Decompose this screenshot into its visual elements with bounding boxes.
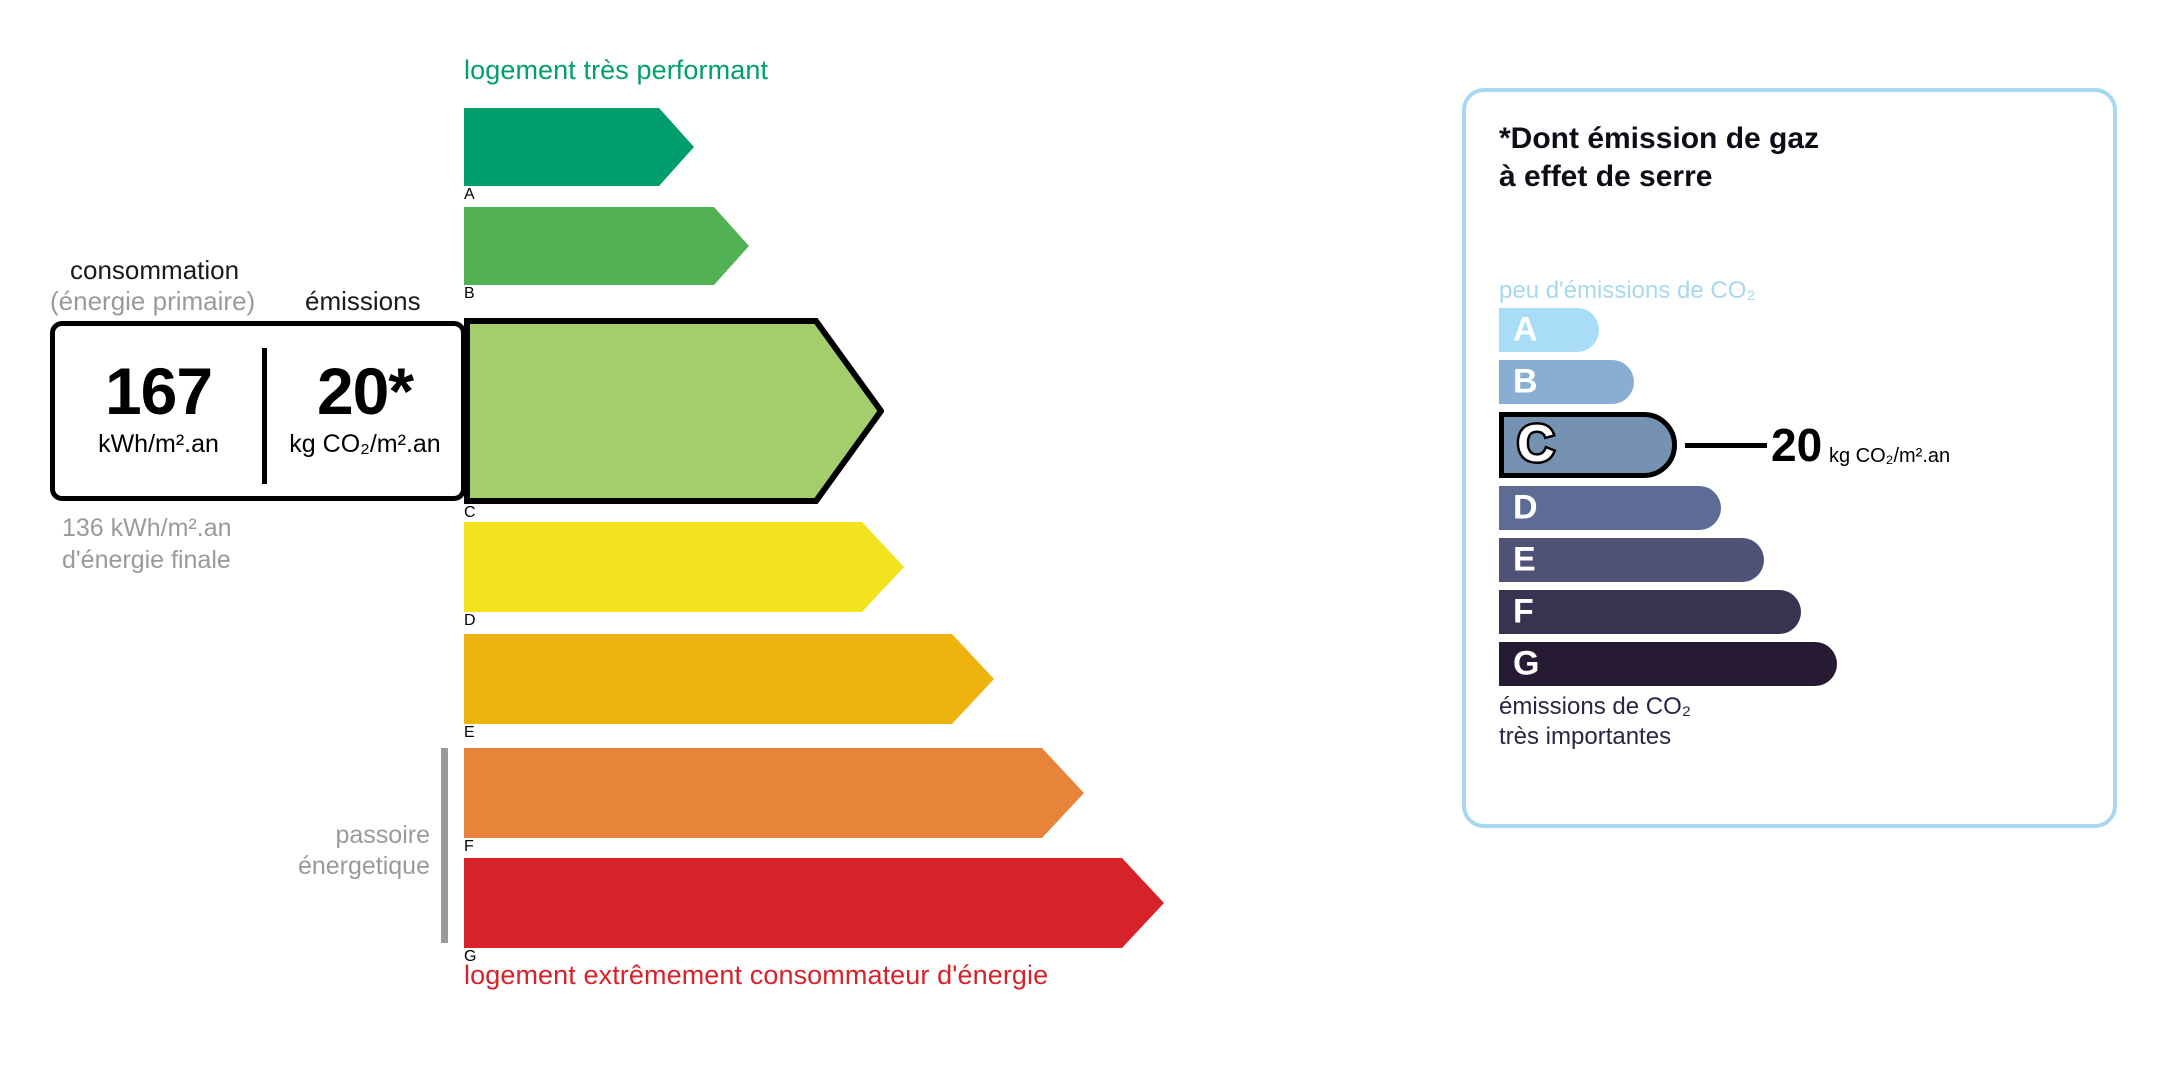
- energy-arrow-c-shape: [464, 318, 884, 504]
- co2-bar-f: [1499, 590, 1801, 634]
- co2-bar-c-letter: C: [1517, 418, 1555, 470]
- dpe-energy-label: logement très performant A B C: [0, 0, 2169, 1079]
- co2-top-caption: peu d'émissions de CO₂: [1499, 277, 1756, 305]
- energy-arrow-f-shape: [464, 748, 1084, 838]
- energy-arrow-b-shape: [464, 207, 749, 285]
- co2-bottom-caption: émissions de CO₂ très importantes: [1499, 692, 1691, 752]
- emissions-value-cell: 20* kg CO₂/m².an: [267, 326, 463, 496]
- energy-arrow-d: D: [464, 522, 904, 612]
- final-energy-label: 136 kWh/m².an d'énergie finale: [62, 512, 232, 576]
- energy-arrow-d-shape: [464, 522, 904, 612]
- consumption-header-line1: consommation: [70, 255, 239, 286]
- energy-arrow-e-letter: E: [464, 724, 475, 741]
- co2-bar-b-letter: B: [1513, 364, 1538, 398]
- bottom-caption-label: logement extrêmement consommateur d'éner…: [464, 960, 1048, 991]
- consumption-header-line2: (énergie primaire): [50, 286, 255, 317]
- top-caption-label: logement très performant: [464, 55, 768, 86]
- passoire-bracket: [441, 748, 448, 943]
- emissions-unit: kg CO₂/m².an: [289, 432, 440, 457]
- energy-arrow-b-letter: B: [464, 285, 475, 302]
- energy-arrow-g-shape: [464, 858, 1164, 948]
- co2-callout-line: [1685, 443, 1767, 448]
- energy-arrow-g: G: [464, 858, 1164, 948]
- co2-callout-value: 20: [1771, 422, 1822, 468]
- value-box: 167 kWh/m².an 20* kg CO₂/m².an: [50, 321, 466, 501]
- co2-bar-d-letter: D: [1513, 490, 1538, 524]
- co2-bar-e: [1499, 538, 1764, 582]
- energy-arrow-f: F: [464, 748, 1084, 838]
- consumption-value: 167: [105, 358, 212, 424]
- co2-panel-title: *Dont émission de gaz à effet de serre: [1499, 120, 1819, 196]
- co2-bar-g: [1499, 642, 1837, 686]
- emissions-value: 20*: [317, 358, 413, 424]
- co2-bar-f-letter: F: [1513, 594, 1534, 628]
- energy-arrow-e-shape: [464, 634, 994, 724]
- co2-bar-a-letter: A: [1513, 312, 1538, 346]
- emissions-header: émissions: [305, 286, 421, 317]
- energy-scale-panel: logement très performant A B C: [0, 0, 1380, 1079]
- energy-arrow-f-letter: F: [464, 838, 474, 855]
- energy-arrow-a-shape: [464, 108, 694, 186]
- energy-arrow-d-letter: D: [464, 612, 476, 629]
- energy-arrow-c-letter: C: [464, 504, 476, 521]
- co2-panel: *Dont émission de gaz à effet de serre p…: [1462, 88, 2117, 828]
- energy-arrow-b: B: [464, 207, 749, 285]
- energy-arrow-e: E: [464, 634, 994, 724]
- consumption-unit: kWh/m².an: [98, 432, 219, 457]
- consumption-value-cell: 167 kWh/m².an: [55, 326, 262, 496]
- passoire-label: passoire énergetique: [170, 820, 430, 883]
- energy-arrow-c-selected: C: [464, 318, 884, 504]
- co2-bar-e-letter: E: [1513, 542, 1536, 576]
- co2-callout-unit: kg CO₂/m².an: [1829, 446, 1950, 466]
- co2-bar-g-letter: G: [1513, 646, 1539, 680]
- energy-arrow-a-letter: A: [464, 186, 475, 203]
- energy-arrow-a: A: [464, 108, 694, 186]
